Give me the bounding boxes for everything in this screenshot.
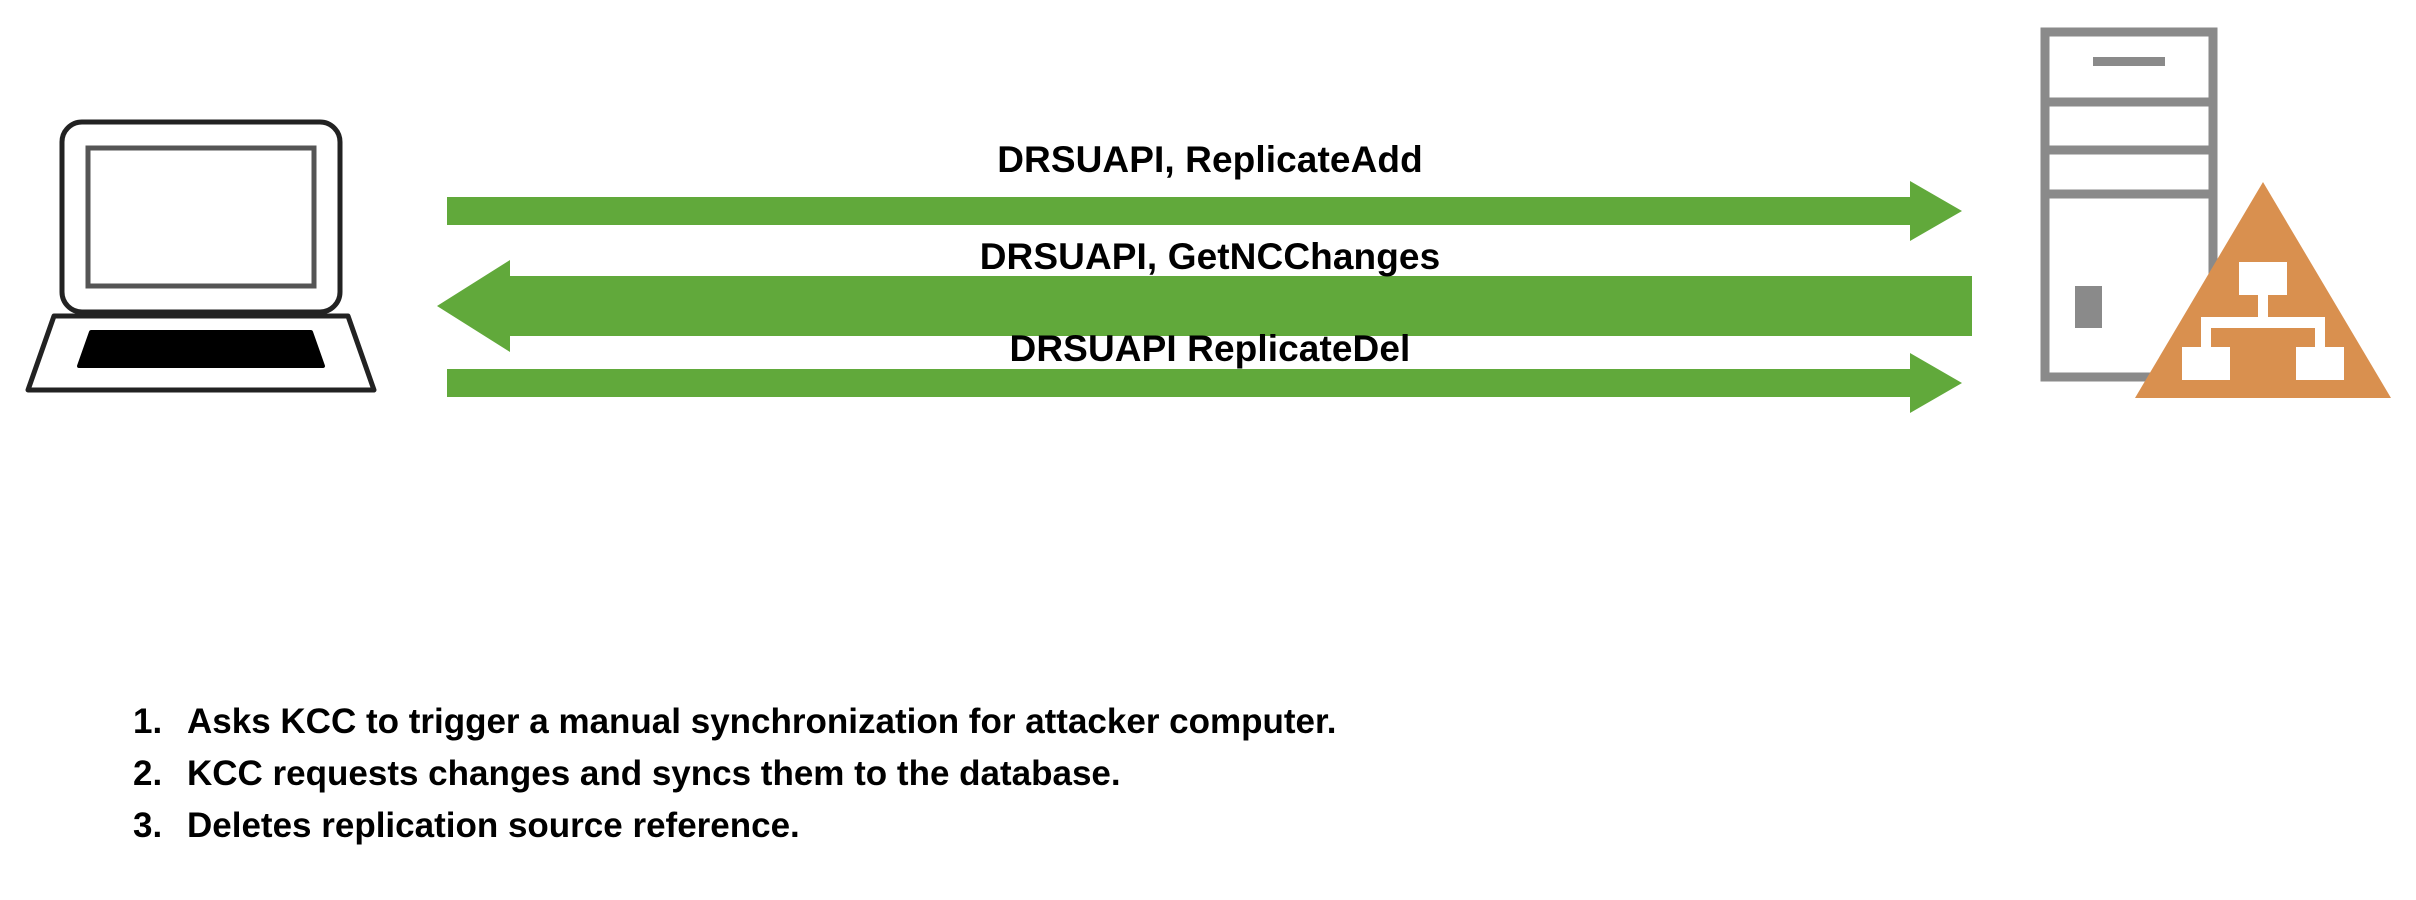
step-number: 2. xyxy=(133,748,187,800)
arrow-label-replicate-add: DRSUAPI, ReplicateAdd xyxy=(430,141,1990,180)
diagram-canvas: DRSUAPI, ReplicateAdd DRSUAPI, GetNCChan… xyxy=(0,0,2416,900)
arrow-label-replicate-del: DRSUAPI ReplicateDel xyxy=(430,330,1990,369)
list-item: 2. KCC requests changes and syncs them t… xyxy=(133,748,1833,800)
step-text: KCC requests changes and syncs them to t… xyxy=(187,748,1121,800)
laptop-icon xyxy=(18,108,388,408)
step-number: 1. xyxy=(133,696,187,748)
list-item: 3. Deletes replication source reference. xyxy=(133,800,1833,852)
steps-list: 1. Asks KCC to trigger a manual synchron… xyxy=(133,696,1833,852)
step-number: 3. xyxy=(133,800,187,852)
server-tower-icon xyxy=(2025,10,2410,410)
list-item: 1. Asks KCC to trigger a manual synchron… xyxy=(133,696,1833,748)
arrow-replicate-add xyxy=(447,181,1962,241)
step-text: Asks KCC to trigger a manual synchroniza… xyxy=(187,696,1336,748)
message-arrows xyxy=(430,150,1990,430)
step-text: Deletes replication source reference. xyxy=(187,800,800,852)
arrow-label-getncchanges: DRSUAPI, GetNCChanges xyxy=(430,238,1990,277)
